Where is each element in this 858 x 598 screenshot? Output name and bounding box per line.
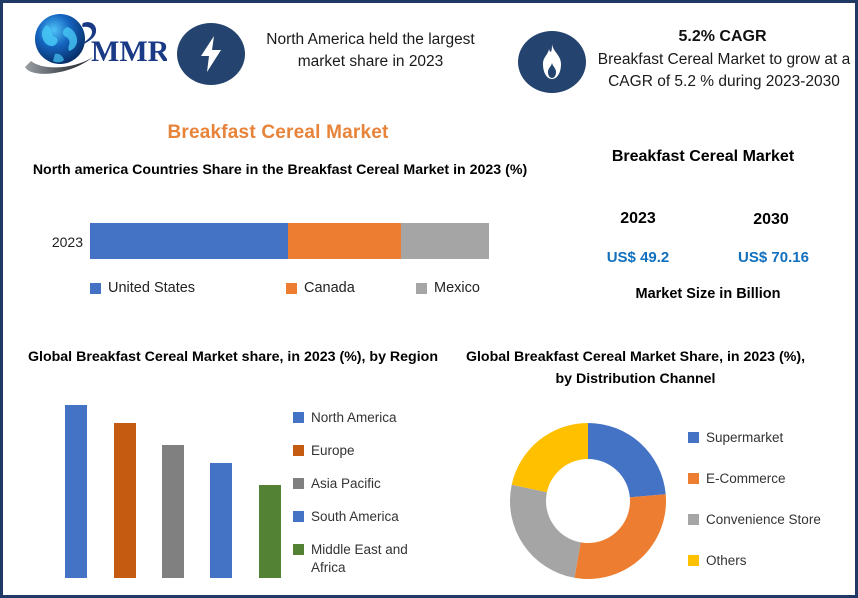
flame-badge bbox=[518, 31, 586, 93]
region-chart-legend: North America Europe Asia Pacific South … bbox=[293, 403, 463, 583]
legend-label: Europe bbox=[311, 442, 355, 460]
legend-swatch-blue bbox=[688, 432, 699, 443]
legend-swatch-gray bbox=[688, 514, 699, 525]
legend-label: E-Commerce bbox=[706, 471, 786, 486]
market-size-forecast-value: US$ 70.16 bbox=[721, 249, 826, 266]
market-size-title: Breakfast Cereal Market bbox=[563, 148, 843, 166]
cagr-headline: 5.2% CAGR bbox=[595, 28, 850, 46]
legend-swatch-blue bbox=[293, 412, 304, 423]
legend-item-south-america: South America bbox=[293, 508, 399, 526]
donut-slice-others bbox=[512, 423, 588, 492]
region-bar-europe bbox=[114, 423, 136, 578]
legend-label: Others bbox=[706, 553, 747, 568]
legend-label: South America bbox=[311, 508, 399, 526]
legend-label: Convenience Store bbox=[706, 512, 821, 527]
mmr-logo: MMR bbox=[17, 9, 167, 81]
legend-label: Asia Pacific bbox=[311, 475, 381, 493]
legend-swatch-orange bbox=[286, 283, 297, 294]
region-chart-title: Global Breakfast Cereal Market share, in… bbox=[23, 346, 443, 368]
donut-slice-convenience-store bbox=[510, 485, 581, 578]
legend-label: Canada bbox=[304, 280, 355, 296]
cagr-description: Breakfast Cereal Market to grow at a CAG… bbox=[595, 49, 853, 94]
legend-item-europe: Europe bbox=[293, 442, 355, 460]
stacked-chart-legend: United States Canada Mexico bbox=[90, 280, 510, 302]
stacked-segment-canada bbox=[288, 223, 401, 259]
donut-chart-svg bbox=[503, 415, 673, 587]
legend-item-mexico: Mexico bbox=[416, 280, 480, 296]
flame-icon bbox=[537, 43, 567, 81]
legend-label: Mexico bbox=[434, 280, 480, 296]
legend-item-supermarket: Supermarket bbox=[688, 430, 783, 445]
legend-swatch-orange bbox=[688, 473, 699, 484]
legend-label: North America bbox=[311, 409, 397, 427]
stacked-segment-mexico bbox=[401, 223, 489, 259]
market-size-forecast-year: 2030 bbox=[721, 211, 821, 229]
market-size-base-value: US$ 49.2 bbox=[588, 249, 688, 266]
stacked-chart-title: North america Countries Share in the Bre… bbox=[25, 160, 535, 181]
legend-label: Supermarket bbox=[706, 430, 783, 445]
donut-slice-supermarket bbox=[588, 423, 666, 497]
legend-item-e-commerce: E-Commerce bbox=[688, 471, 786, 486]
lightning-badge bbox=[177, 23, 245, 85]
lightning-bolt-icon bbox=[196, 35, 226, 73]
legend-item-asia-pacific: Asia Pacific bbox=[293, 475, 381, 493]
region-chart-plot bbox=[43, 398, 303, 578]
infographic-canvas: MMR North America held the largest marke… bbox=[0, 0, 858, 598]
legend-item-convenience-store: Convenience Store bbox=[688, 512, 821, 527]
legend-swatch-dark-orange bbox=[293, 445, 304, 456]
legend-item-north-america: North America bbox=[293, 409, 397, 427]
region-bar-south-america bbox=[210, 463, 232, 578]
market-size-unit-label: Market Size in Billion bbox=[573, 286, 843, 302]
legend-swatch-blue bbox=[293, 511, 304, 522]
legend-swatch-gray bbox=[293, 478, 304, 489]
highlight-text: North America held the largest market sh… bbox=[253, 29, 488, 74]
legend-swatch-green bbox=[293, 544, 304, 555]
logo-text: MMR bbox=[91, 35, 167, 68]
region-bar-asia-pacific bbox=[162, 445, 184, 578]
stacked-segment-united-states bbox=[90, 223, 288, 259]
page-title: Breakfast Cereal Market bbox=[3, 122, 553, 144]
legend-item-united-states: United States bbox=[90, 280, 195, 296]
legend-swatch-gray bbox=[416, 283, 427, 294]
legend-label: Middle East and Africa bbox=[311, 541, 423, 576]
region-bar-north-america bbox=[65, 405, 87, 578]
region-bar-middle-east-and-africa bbox=[259, 485, 281, 578]
donut-chart-plot bbox=[503, 415, 673, 587]
legend-swatch-blue bbox=[90, 283, 101, 294]
stacked-chart-category-label: 2023 bbox=[33, 234, 83, 250]
legend-item-middle-east-and-africa: Middle East and Africa bbox=[293, 541, 423, 576]
donut-chart-title: Global Breakfast Cereal Market Share, in… bbox=[463, 346, 808, 390]
legend-item-others: Others bbox=[688, 553, 747, 568]
market-size-base-year: 2023 bbox=[588, 210, 688, 228]
donut-chart-legend: Supermarket E-Commerce Convenience Store… bbox=[688, 423, 853, 578]
stacked-bar bbox=[90, 223, 489, 259]
legend-swatch-yellow bbox=[688, 555, 699, 566]
globe-logo-icon: MMR bbox=[17, 9, 167, 81]
legend-label: United States bbox=[108, 280, 195, 296]
donut-slice-e-commerce bbox=[574, 494, 666, 579]
legend-item-canada: Canada bbox=[286, 280, 355, 296]
